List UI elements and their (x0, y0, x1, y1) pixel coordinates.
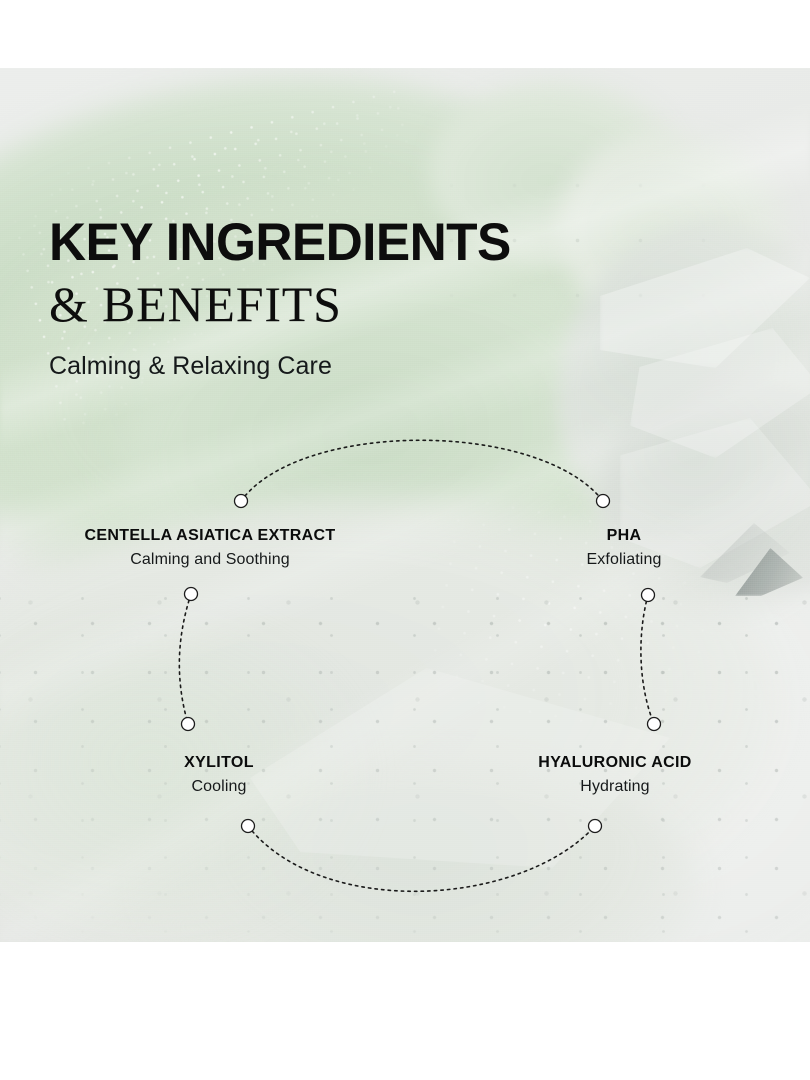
product-texture-photo (0, 68, 810, 942)
ingredient-benefit-hyaluronic-acid: Hydrating (538, 776, 691, 798)
ingredient-callout-centella-asiatica-extract: CENTELLA ASIATICA EXTRACTCalming and Soo… (84, 526, 335, 571)
page-tagline: Calming & Relaxing Care (49, 351, 525, 381)
ingredient-benefit-pha: Exfoliating (587, 549, 662, 571)
ingredient-benefit-centella-asiatica-extract: Calming and Soothing (84, 549, 335, 571)
page-title: KEY INGREDIENTS (49, 215, 511, 271)
photo-grain (0, 68, 810, 942)
ingredient-callout-hyaluronic-acid: HYALURONIC ACIDHydrating (538, 753, 691, 798)
ingredient-name-hyaluronic-acid: HYALURONIC ACID (538, 753, 691, 773)
ingredient-name-centella-asiatica-extract: CENTELLA ASIATICA EXTRACT (84, 526, 335, 546)
ingredient-name-pha: PHA (587, 526, 662, 546)
page-subtitle: & BENEFITS (49, 277, 525, 331)
header-block: KEY INGREDIENTS & BENEFITS Calming & Rel… (49, 215, 525, 381)
ingredient-callout-pha: PHAExfoliating (587, 526, 662, 571)
ingredient-callout-xylitol: XYLITOLCooling (184, 753, 254, 798)
ingredient-benefit-xylitol: Cooling (184, 776, 254, 798)
ingredient-name-xylitol: XYLITOL (184, 753, 254, 773)
product-infographic-page: KEY INGREDIENTS & BENEFITS Calming & Rel… (0, 0, 810, 1080)
